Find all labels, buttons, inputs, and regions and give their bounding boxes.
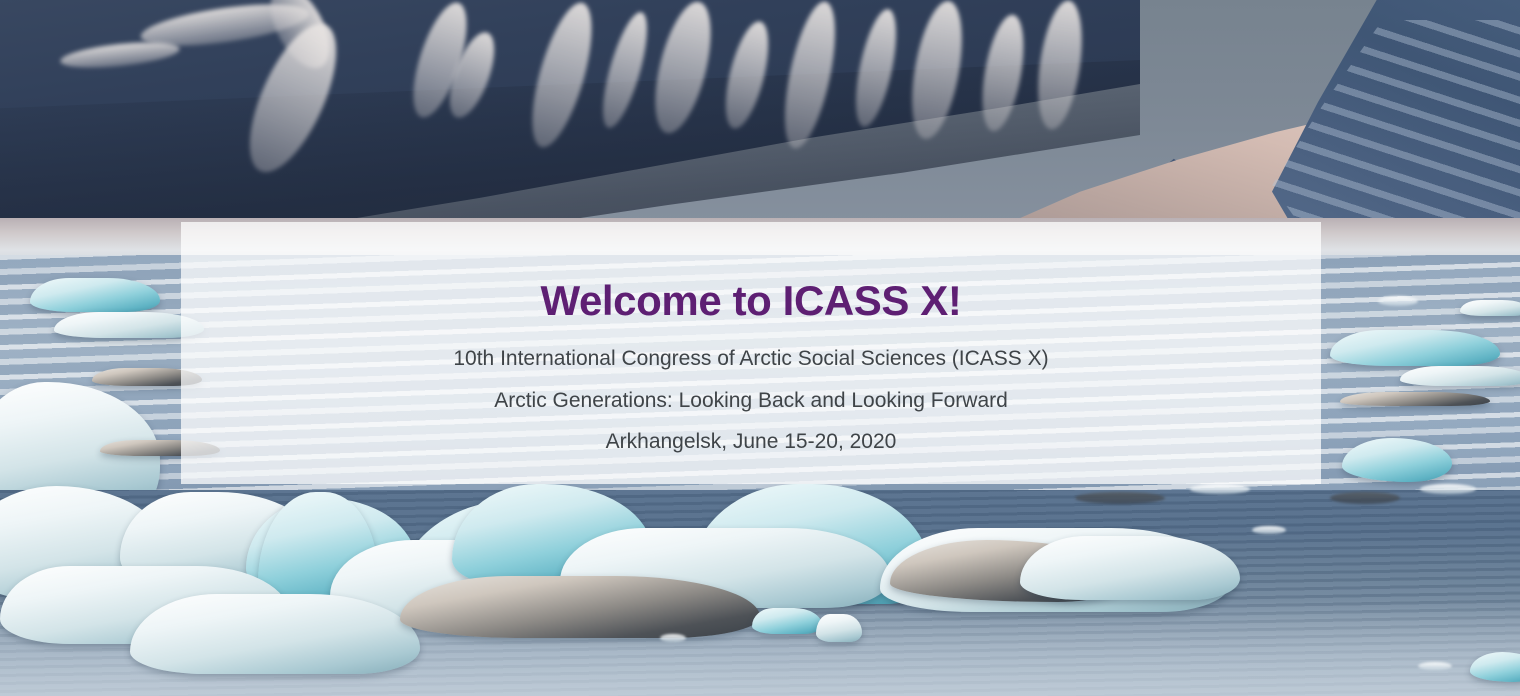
ice-floe [1400, 366, 1520, 386]
ice-fragment [1420, 484, 1476, 494]
ice-floe [30, 278, 160, 312]
hero-subtitle-theme: Arctic Generations: Looking Back and Loo… [181, 373, 1321, 414]
ice-floe [1340, 392, 1490, 406]
ice-floe [752, 608, 822, 634]
ice-floe [1330, 330, 1500, 366]
iceberg [1020, 536, 1240, 600]
ice-floe [1460, 300, 1520, 316]
hero-text-panel: Welcome to ICASS X! 10th International C… [181, 222, 1321, 484]
ice-fragment [1075, 492, 1165, 504]
ice-fragment [1418, 662, 1452, 670]
ice-fragment [1190, 484, 1250, 494]
hero-subtitle-congress-name: 10th International Congress of Arctic So… [181, 326, 1321, 372]
hero-subtitle-location-dates: Arkhangelsk, June 15-20, 2020 [181, 414, 1321, 455]
ice-fragment [1378, 296, 1418, 306]
iceberg [130, 594, 420, 674]
ice-floe [816, 614, 862, 642]
ice-fragment [660, 634, 686, 642]
page-title: Welcome to ICASS X! [181, 258, 1321, 326]
ice-fragment [1252, 526, 1286, 534]
ice-fragment [1330, 492, 1400, 504]
iceberg-dark [400, 576, 760, 638]
hero-banner: Welcome to ICASS X! 10th International C… [0, 0, 1520, 696]
